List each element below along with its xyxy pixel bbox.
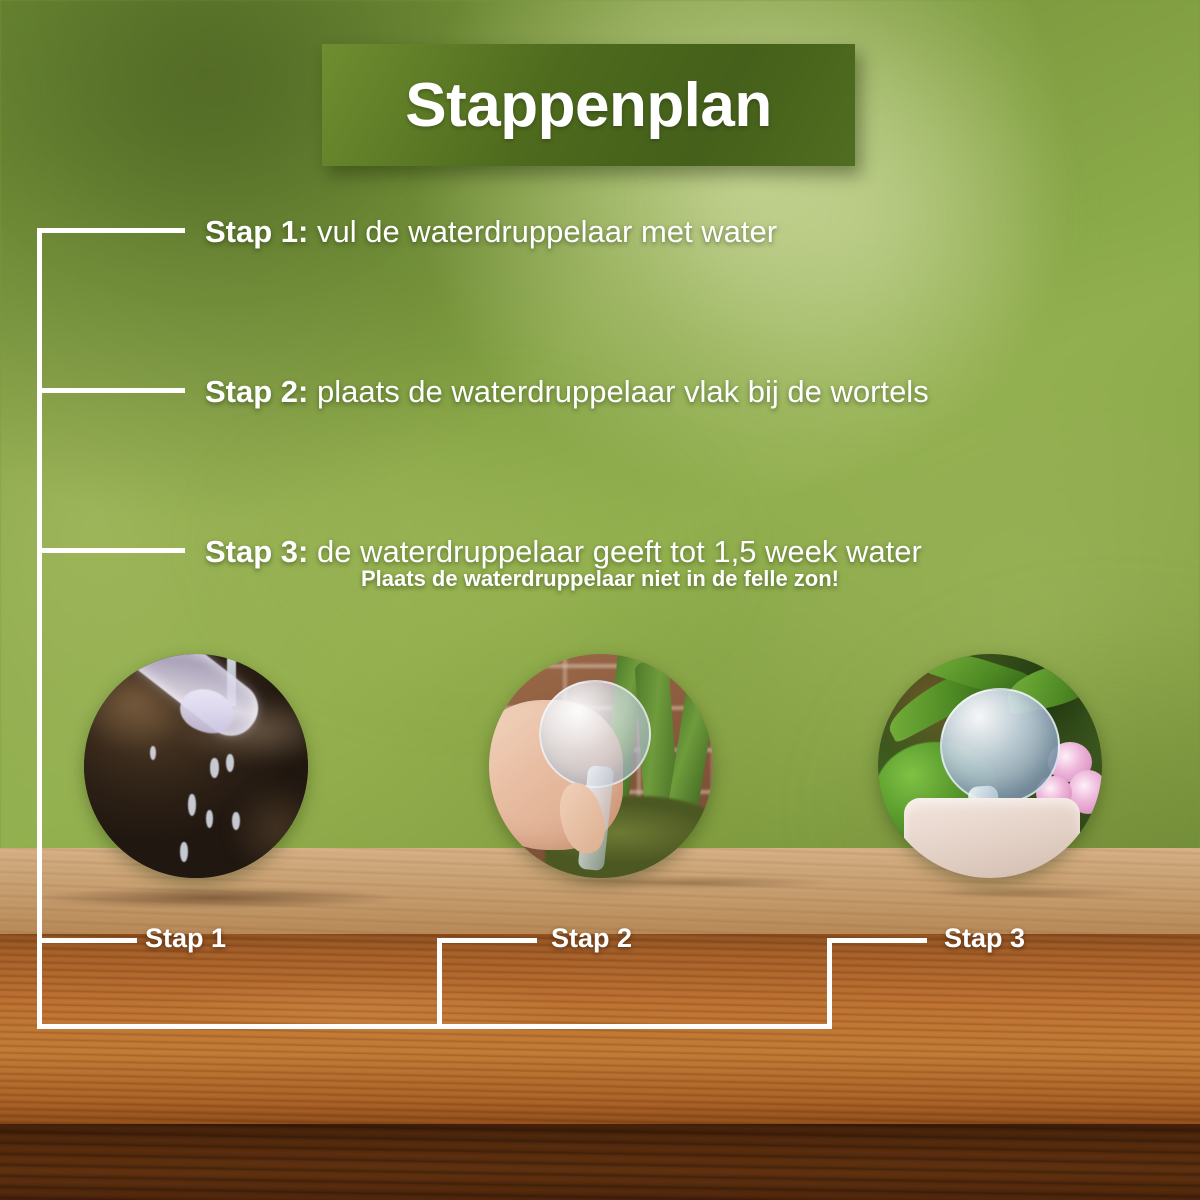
step-2-photo-scene: [489, 654, 713, 878]
water-droplet: [180, 842, 188, 862]
step-row-2: Stap 2: plaats de waterdruppelaar vlak b…: [205, 374, 929, 410]
bracket-branch-step-3: [37, 548, 185, 553]
step-2-photo: [489, 654, 713, 878]
globe-body-shape: [940, 688, 1060, 804]
step-2-description: plaats de waterdruppelaar vlak bij de wo…: [308, 374, 928, 409]
bottom-branch-step-1: [37, 938, 137, 943]
infographic-canvas: Stappenplan Stap 1: vul de waterdruppela…: [0, 0, 1200, 1200]
bottom-branch-step-3: [827, 938, 927, 943]
water-droplet: [188, 794, 196, 816]
bracket-branch-step-2: [37, 388, 185, 393]
water-droplet: [210, 758, 219, 778]
water-droplet: [206, 810, 213, 828]
water-droplet: [232, 812, 240, 830]
step-3-caption: Stap 3: [944, 923, 1025, 954]
bottom-riser-step-2: [437, 938, 442, 1026]
bracket-branch-step-1: [37, 228, 185, 233]
step-2-caption: Stap 2: [551, 923, 632, 954]
step-3-photo-scene: [878, 654, 1102, 878]
warning-note: Plaats de waterdruppelaar niet in de fel…: [0, 566, 1200, 592]
bottom-bracket-rail: [37, 1024, 832, 1029]
step-1-photo-scene: [84, 654, 308, 878]
step-1-caption: Stap 1: [145, 923, 226, 954]
plank-front-face: [0, 934, 1200, 1124]
plank-shadow-band: [0, 1124, 1200, 1200]
step-1-label: Stap 1:: [205, 214, 308, 249]
step-3-photo: [878, 654, 1102, 878]
step-1-description: vul de waterdruppelaar met water: [308, 214, 777, 249]
title-banner: Stappenplan: [322, 44, 855, 166]
step-1-photo: [84, 654, 308, 878]
step-2-label: Stap 2:: [205, 374, 308, 409]
water-droplet: [226, 754, 234, 772]
step-3-label: Stap 3:: [205, 534, 308, 569]
step-3-description: de waterdruppelaar geeft tot 1,5 week wa…: [308, 534, 921, 569]
bracket-vertical-spine: [37, 228, 42, 1028]
page-title: Stappenplan: [405, 70, 772, 141]
bottom-branch-step-2: [437, 938, 537, 943]
water-droplet: [150, 746, 156, 760]
white-plant-pot: [904, 798, 1080, 878]
step-row-3: Stap 3: de waterdruppelaar geeft tot 1,5…: [205, 534, 922, 570]
step-row-1: Stap 1: vul de waterdruppelaar met water: [205, 214, 777, 250]
bottom-riser-step-3: [827, 938, 832, 1026]
